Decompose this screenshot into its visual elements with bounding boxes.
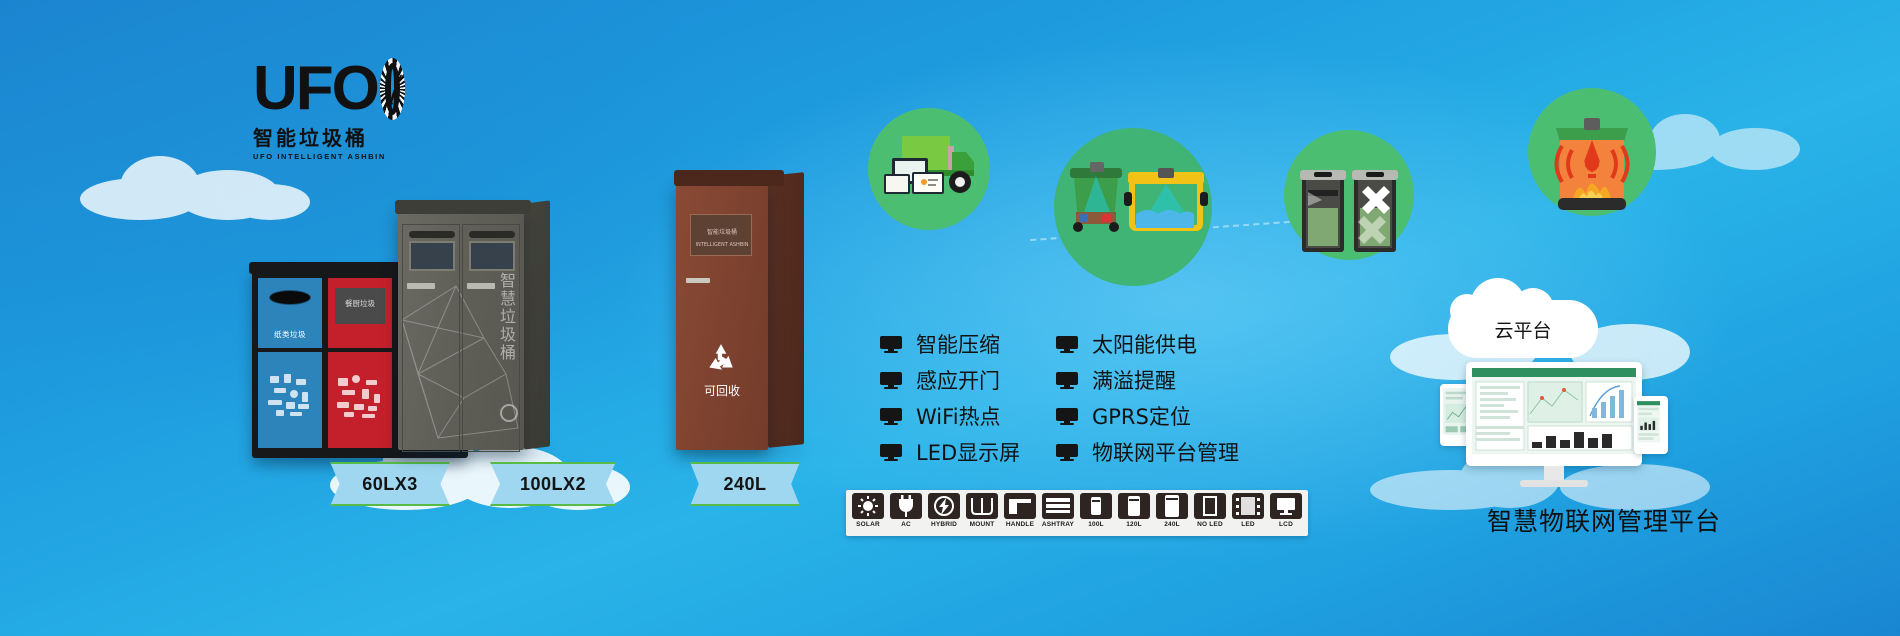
capacity-badge-100lx2-label: 100LX2 <box>520 474 586 495</box>
smart-bin-door-left[interactable] <box>402 224 460 452</box>
power-plug-icon <box>890 493 922 519</box>
smart-bin-handle-left[interactable] <box>407 283 435 289</box>
feature-label: GPRS定位 <box>1092 401 1191 431</box>
capacity-badge-240l: 240L <box>690 462 800 506</box>
capacity-240l-icon <box>1156 493 1188 519</box>
smart-bin-logo-mark <box>500 404 518 422</box>
monitor-bullet-icon <box>1056 336 1078 353</box>
spec-icon-label: 100L <box>1088 521 1104 528</box>
feature-circle-fleet <box>868 108 990 230</box>
spec-icon-label: AC <box>901 521 911 528</box>
feature-label: 智能压缩 <box>916 329 1000 359</box>
feature-label: 物联网平台管理 <box>1092 437 1239 467</box>
recycle-label: 可回收 <box>676 382 768 399</box>
capacity-100l-icon <box>1080 493 1112 519</box>
feature-item: 物联网平台管理 <box>1056 434 1239 470</box>
spec-icon-no-led[interactable]: NO LED <box>1193 493 1227 533</box>
spec-icon-label: HANDLE <box>1006 521 1034 528</box>
monitor-bullet-icon <box>1056 372 1078 389</box>
feature-circle-fire-alarm <box>1528 88 1656 216</box>
bin-double-smart[interactable]: 智慧垃圾桶 <box>398 200 550 450</box>
logo-en-name: UFO INTELLIGENT ASHBIN <box>253 152 405 161</box>
spec-icon-handle[interactable]: HANDLE <box>1003 493 1037 533</box>
capacity-badge-100lx2: 100LX2 <box>490 462 616 506</box>
cloud-platform-badge: 云平台 <box>1448 300 1598 358</box>
lcd-icon <box>1270 493 1302 519</box>
brown-bin-handle[interactable] <box>686 278 710 283</box>
spec-icon-120l[interactable]: 120L <box>1117 493 1151 533</box>
capacity-120l-icon <box>1118 493 1150 519</box>
fire-alarm-icon <box>1556 118 1628 210</box>
monitor-bullet-icon <box>1056 408 1078 425</box>
smart-bin-handle-right[interactable] <box>467 283 495 289</box>
feature-item: 太阳能供电 <box>1056 326 1239 362</box>
smart-bin-side-text: 智慧垃圾桶 <box>494 272 518 362</box>
feature-item: 感应开门 <box>880 362 1020 398</box>
spec-icon-label: SOLAR <box>856 521 880 528</box>
spec-icon-label: 240L <box>1164 521 1180 528</box>
spec-icon-240l[interactable]: 240L <box>1155 493 1189 533</box>
monitor-bullet-icon <box>880 408 902 425</box>
monitor-screen <box>1472 368 1636 454</box>
monitor-bullet-icon <box>1056 444 1078 461</box>
desktop-monitor <box>1466 362 1642 466</box>
feature-label: 太阳能供电 <box>1092 329 1197 359</box>
banner-canvas: UFO 智能垃圾桶 UFO INTELLIGENT ASHBIN 纸类垃圾 <box>0 0 1900 636</box>
logo-cn-name: 智能垃圾桶 <box>253 122 405 151</box>
ashtray-icon <box>1042 493 1074 519</box>
logo-wordmark-row: UFO <box>253 58 405 120</box>
platform-title: 智慧物联网管理平台 <box>1487 502 1721 538</box>
capacity-badge-60lx3-label: 60LX3 <box>362 474 418 495</box>
monitor-bullet-icon <box>880 372 902 389</box>
monitor-bullet-icon <box>880 444 902 461</box>
feature-circle-compaction <box>1284 130 1414 260</box>
spec-icon-label: LED <box>1241 521 1255 528</box>
feature-circle-fill-sensor <box>1054 128 1212 286</box>
feature-item: LED显示屏 <box>880 434 1020 470</box>
spec-icon-hybrid[interactable]: HYBRID <box>927 493 961 533</box>
spec-icon-label: HYBRID <box>931 521 957 528</box>
feature-item: 智能压缩 <box>880 326 1020 362</box>
bin-single-recycle[interactable]: 智能垃圾桶 INTELLIGENT ASHBIN 可回收 <box>676 168 804 450</box>
feature-label: WiFi热点 <box>916 401 1001 431</box>
compaction-icon <box>1300 170 1398 252</box>
compartment-label-paper: 纸类垃圾 <box>258 329 322 340</box>
litter-graphic-paper <box>266 374 314 422</box>
compartment-label-kitchen: 餐厨垃圾 <box>328 298 392 309</box>
fill-level-sensor-icon <box>1070 162 1208 232</box>
feature-item: 满溢提醒 <box>1056 362 1239 398</box>
bin-compartment-paper: 纸类垃圾 <box>258 278 322 450</box>
spec-icon-lcd[interactable]: LCD <box>1269 493 1303 533</box>
brand-logo: UFO 智能垃圾桶 UFO INTELLIGENT ASHBIN <box>253 58 405 158</box>
feature-label: LED显示屏 <box>916 437 1020 467</box>
spec-icon-label: LCD <box>1279 521 1293 528</box>
spec-icon-ac[interactable]: AC <box>889 493 923 533</box>
spec-icon-label: MOUNT <box>970 521 995 528</box>
brown-bin-screen-text-en: INTELLIGENT ASHBIN <box>691 241 753 249</box>
paper-slot-icon <box>270 291 310 304</box>
handle-icon <box>1004 493 1036 519</box>
fleet-monitoring-icon <box>884 136 974 194</box>
monitor-bullet-icon <box>880 336 902 353</box>
cloud-platform-label: 云平台 <box>1448 300 1598 358</box>
spec-icon-solar[interactable]: SOLAR <box>851 493 885 533</box>
no-led-icon <box>1194 493 1226 519</box>
recycle-icon <box>704 342 738 376</box>
feature-column-right: 太阳能供电 满溢提醒 GPRS定位 物联网平台管理 <box>1056 326 1239 470</box>
smart-bin-screen-left <box>409 241 455 271</box>
capacity-badge-60lx3: 60LX3 <box>330 462 450 506</box>
feature-item: GPRS定位 <box>1056 398 1239 434</box>
brown-bin-screen: 智能垃圾桶 INTELLIGENT ASHBIN <box>690 214 752 256</box>
spec-icon-100l[interactable]: 100L <box>1079 493 1113 533</box>
management-platform-devices <box>1440 362 1670 492</box>
capacity-badge-240l-label: 240L <box>723 474 766 495</box>
smart-bin-screen-right <box>469 241 515 271</box>
sun-icon <box>852 493 884 519</box>
spec-icon-strip: SOLAR AC HYBRID <box>846 490 1308 536</box>
bin-compartment-kitchen: 餐厨垃圾 <box>328 278 392 450</box>
spec-icon-led[interactable]: LED <box>1231 493 1265 533</box>
feature-item: WiFi热点 <box>880 398 1020 434</box>
spec-icon-label: 120L <box>1126 521 1142 528</box>
spec-icon-label: ASHTRAY <box>1042 521 1074 528</box>
brown-bin-screen-text-cn: 智能垃圾桶 <box>691 229 753 237</box>
led-icon <box>1232 493 1264 519</box>
spec-icon-label: NO LED <box>1197 521 1223 528</box>
wall-mount-icon <box>966 493 998 519</box>
spec-icon-ashtray[interactable]: ASHTRAY <box>1041 493 1075 533</box>
feature-label: 感应开门 <box>916 365 1000 395</box>
spec-icon-mount[interactable]: MOUNT <box>965 493 999 533</box>
feature-label: 满溢提醒 <box>1092 365 1176 395</box>
logo-wordmark: UFO <box>253 59 378 119</box>
hybrid-power-icon <box>928 493 960 519</box>
feature-column-left: 智能压缩 感应开门 WiFi热点 LED显示屏 <box>880 326 1020 470</box>
phone-device <box>1634 396 1668 454</box>
litter-graphic-kitchen <box>336 374 384 422</box>
logo-gear-icon <box>380 58 405 120</box>
